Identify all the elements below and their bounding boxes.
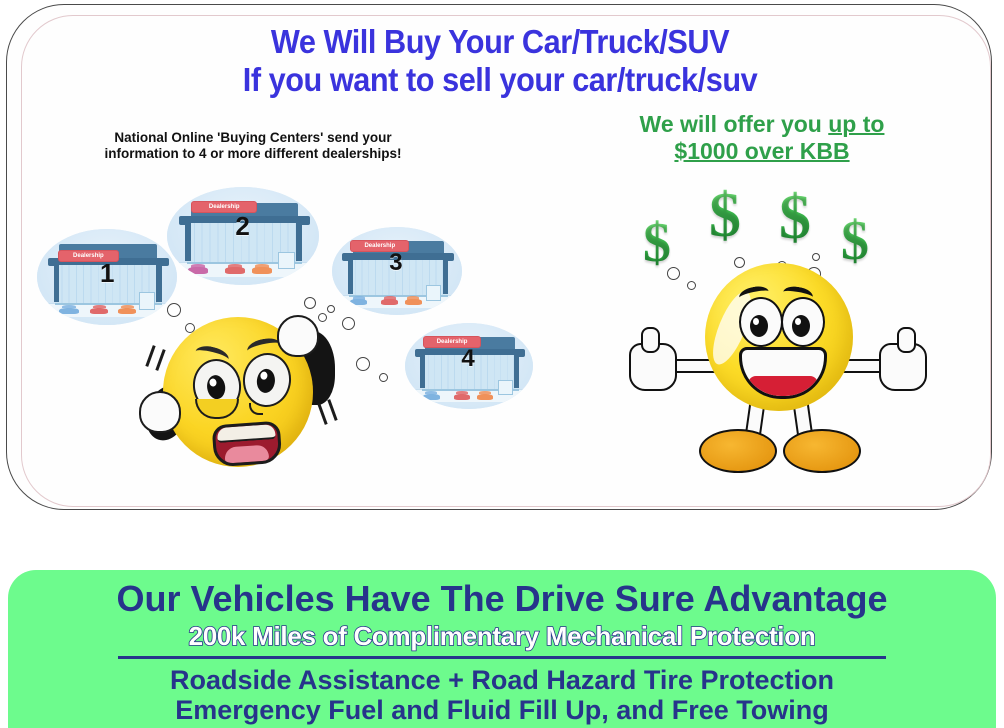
car-icon — [423, 394, 440, 400]
dealership-door — [498, 380, 513, 396]
emoji-eye-left — [739, 297, 783, 347]
dollar-sign-icon-3: $ — [779, 185, 811, 249]
dealership-door — [139, 292, 155, 309]
tree-icon — [520, 391, 524, 399]
buying-centers-line-2: information to 4 or more different deale… — [63, 146, 443, 162]
car-icon — [118, 308, 136, 315]
emoji-pupil — [792, 315, 810, 337]
dealership-number-2: 2 — [235, 211, 249, 242]
tree-icon — [449, 297, 453, 305]
motion-line — [327, 399, 337, 421]
thought-dot — [327, 305, 335, 313]
dealership-bubble-4: Dealership 4 — [405, 323, 533, 409]
motion-line — [155, 349, 165, 371]
dollar-sign-icon-4: $ — [841, 213, 869, 269]
dealership-number-1: 1 — [100, 258, 114, 289]
kbb-offer-line-1: We will offer you up to — [592, 111, 932, 138]
emoji-pupil — [206, 374, 227, 400]
dealership-column — [514, 352, 519, 388]
motion-line — [145, 345, 155, 367]
dollar-sign-icon-2: $ — [709, 183, 741, 247]
emoji-glove-hand-right — [277, 315, 319, 357]
thumb-nub — [897, 327, 916, 353]
emoji-glove-hand-left — [139, 391, 181, 433]
thumb-nub — [641, 327, 660, 353]
car-icon — [405, 299, 422, 305]
dealership-column — [296, 220, 302, 261]
car-icon — [90, 308, 108, 315]
car-icon — [350, 299, 367, 305]
car-icon — [59, 308, 79, 315]
banner-line-2-underline — [118, 656, 886, 659]
banner-line-1: Our Vehicles Have The Drive Sure Advanta… — [8, 579, 996, 619]
thumbs-up-icon-right — [879, 343, 927, 391]
buying-centers-line-1: National Online 'Buying Centers' send yo… — [63, 130, 443, 146]
kbb-offer-lead: We will offer you — [640, 111, 829, 137]
emoji-mouth — [212, 421, 283, 468]
car-icon — [252, 267, 272, 274]
emoji-tongue — [224, 445, 269, 464]
dealership-column — [156, 262, 162, 302]
emoji-lower-lip — [748, 376, 818, 396]
banner-line-3: Roadside Assistance + Road Hazard Tire P… — [8, 665, 996, 696]
thumbs-up-icon-left — [629, 343, 677, 391]
tree-icon — [304, 264, 309, 273]
thought-dot — [379, 373, 388, 382]
car-icon — [225, 267, 245, 274]
promo-card: We Will Buy Your Car/Truck/SUV If you wa… — [6, 4, 992, 510]
dealership-column — [443, 257, 448, 294]
drive-sure-advantage-banner: Our Vehicles Have The Drive Sure Advanta… — [8, 570, 996, 728]
dealership-door — [426, 285, 441, 301]
car-icon — [381, 299, 398, 305]
headline-line-2: If you want to sell your car/truck/suv — [42, 61, 959, 99]
page-title: We Will Buy Your Car/Truck/SUV If you wa… — [42, 23, 959, 99]
dealership-number-4: 4 — [461, 345, 474, 373]
kbb-offer-line-2: $1000 over KBB — [592, 138, 932, 165]
motion-line — [317, 403, 327, 425]
kbb-offer-caption: We will offer you up to $1000 over KBB — [592, 111, 932, 165]
dealership-number-3: 3 — [389, 249, 402, 277]
dealership-column — [420, 352, 425, 388]
emoji-teeth — [217, 424, 276, 443]
thought-dot — [342, 317, 355, 330]
kbb-offer-upto: up to — [828, 111, 884, 137]
happy-emoji — [647, 263, 907, 493]
emoji-pupil — [256, 368, 276, 394]
car-icon — [477, 394, 494, 400]
emoji-shoe-right — [783, 429, 861, 473]
dealership-bubble-2: Dealership 2 — [167, 187, 319, 285]
dealership-column — [185, 220, 191, 261]
dealership-column — [348, 257, 353, 294]
emoji-pupil — [750, 315, 768, 337]
confused-emoji — [155, 307, 327, 479]
buying-centers-caption: National Online 'Buying Centers' send yo… — [63, 130, 443, 162]
car-icon — [188, 267, 208, 274]
headline-line-1: We Will Buy Your Car/Truck/SUV — [42, 23, 959, 61]
thought-dot — [356, 357, 370, 371]
banner-line-2: 200k Miles of Complimentary Mechanical P… — [8, 621, 996, 651]
emoji-shoe-left — [699, 429, 777, 473]
dealership-bubble-3: Dealership 3 — [332, 227, 462, 315]
thought-dot — [812, 253, 820, 261]
dealership-column — [54, 262, 60, 302]
dealership-door — [278, 252, 295, 270]
banner-line-4: Emergency Fuel and Fluid Fill Up, and Fr… — [8, 695, 996, 726]
emoji-face — [705, 263, 853, 411]
emoji-eye-right — [781, 297, 825, 347]
emoji-smile — [739, 347, 827, 399]
car-icon — [454, 394, 471, 400]
